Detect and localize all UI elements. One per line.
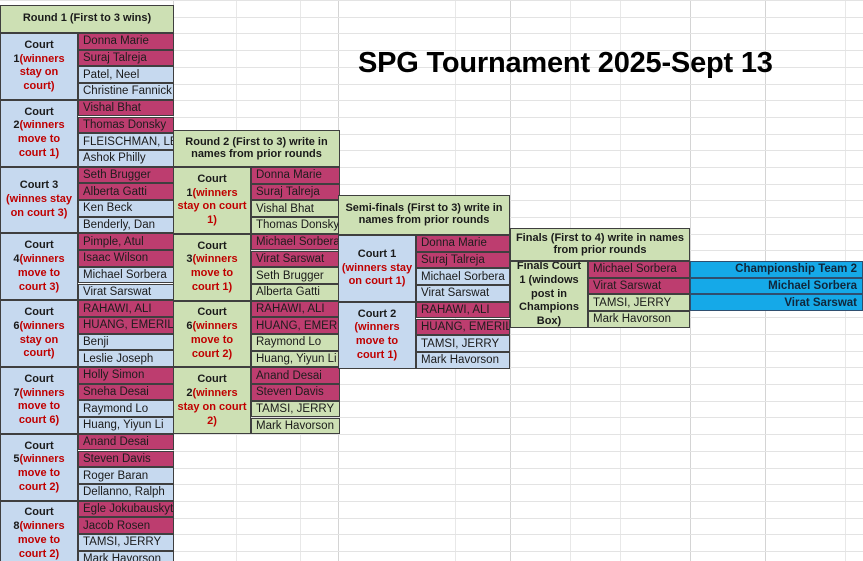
- round2-player-4-4[interactable]: Mark Havorson: [251, 418, 340, 435]
- finals-court-label: Finals Court 1 (windows post in Champion…: [510, 261, 588, 328]
- court-note: (winners move to court 6): [18, 387, 65, 427]
- championship-player-2[interactable]: Virat Sarswat: [690, 294, 863, 311]
- round2-player-1-1[interactable]: Donna Marie: [251, 167, 340, 184]
- semifinals-court-label-1: Court 1 (winners stay on court 1): [338, 235, 416, 302]
- round2-player-3-2[interactable]: HUANG, EMERIL: [251, 317, 340, 334]
- semifinals-court-label-2: Court 2 (winners move to court 1): [338, 302, 416, 369]
- round1-player-4-3[interactable]: Michael Sorbera: [78, 267, 174, 284]
- round1-player-7-2[interactable]: Steven Davis: [78, 451, 174, 468]
- semifinals-player-2-3[interactable]: TAMSI, JERRY: [416, 335, 510, 352]
- finals-player-3[interactable]: TAMSI, JERRY: [588, 294, 690, 311]
- championship-player-1[interactable]: Michael Sorbera: [690, 278, 863, 295]
- semifinals-player-1-2[interactable]: Suraj Talreja: [416, 252, 510, 269]
- round1-player-5-1[interactable]: RAHAWI, ALI: [78, 300, 174, 317]
- round2-player-3-4[interactable]: Huang, Yiyun Li: [251, 351, 340, 368]
- court-note: (winners move to court 1): [354, 321, 399, 361]
- round1-player-2-4[interactable]: Ashok Philly: [78, 150, 174, 167]
- round1-player-5-2[interactable]: HUANG, EMERIL: [78, 317, 174, 334]
- championship-label: Championship Team 2: [690, 261, 863, 278]
- round2-player-3-3[interactable]: Raymond Lo: [251, 334, 340, 351]
- round1-player-8-1[interactable]: Egle Jokubauskyte: [78, 501, 174, 518]
- round2-player-4-1[interactable]: Anand Desai: [251, 367, 340, 384]
- tournament-bracket-sheet: SPG Tournament 2025-Sept 13 Round 1 (Fir…: [0, 0, 863, 561]
- round2-player-1-4[interactable]: Thomas Donsky: [251, 217, 340, 234]
- round1-court-label-3: Court 3 (winnes stay on court 3): [0, 167, 78, 234]
- semifinals-player-2-1[interactable]: RAHAWI, ALI: [416, 302, 510, 319]
- court-name: Court 1: [358, 248, 397, 260]
- round2-player-2-4[interactable]: Alberta Gatti: [251, 284, 340, 301]
- round2-player-4-3[interactable]: TAMSI, JERRY: [251, 401, 340, 418]
- semifinals-player-2-4[interactable]: Mark Havorson: [416, 352, 510, 369]
- round1-player-1-3[interactable]: Patel, Neel: [78, 66, 174, 83]
- round1-player-6-1[interactable]: Holly Simon: [78, 367, 174, 384]
- round1-player-3-1[interactable]: Seth Brugger: [78, 167, 174, 184]
- court-name: Court 3: [20, 179, 59, 191]
- finals-player-1[interactable]: Michael Sorbera: [588, 261, 690, 278]
- round1-player-6-3[interactable]: Raymond Lo: [78, 400, 174, 417]
- court-note: (winners move to court 2): [18, 520, 65, 560]
- round1-player-6-4[interactable]: Huang, Yiyun Li: [78, 417, 174, 434]
- court-note: (winners stay on court 1): [342, 262, 412, 288]
- round1-player-5-3[interactable]: Benji: [78, 334, 174, 351]
- round1-player-3-3[interactable]: Ken Beck: [78, 200, 174, 217]
- finals-player-2[interactable]: Virat Sarswat: [588, 278, 690, 295]
- round2-court-label-2: Court 3(winners move to court 1): [173, 234, 251, 301]
- round1-player-7-4[interactable]: Dellanno, Ralph: [78, 484, 174, 501]
- round1-player-4-1[interactable]: Pimple, Atul: [78, 233, 174, 250]
- round1-player-8-4[interactable]: Mark Havorson: [78, 551, 174, 561]
- round2-court-label-3: Court 6(winners move to court 2): [173, 301, 251, 368]
- round2-player-1-2[interactable]: Suraj Talreja: [251, 184, 340, 201]
- round1-player-4-2[interactable]: Isaac Wilson: [78, 250, 174, 267]
- semifinals-player-1-1[interactable]: Donna Marie: [416, 235, 510, 252]
- round1-court-label-5: Court 6(winners stay on court): [0, 300, 78, 367]
- finals-header: Finals (First to 4) write in names from …: [510, 228, 690, 261]
- round1-player-7-1[interactable]: Anand Desai: [78, 434, 174, 451]
- semifinals-player-1-3[interactable]: Michael Sorbera: [416, 268, 510, 285]
- round1-player-1-2[interactable]: Suraj Talreja: [78, 50, 174, 67]
- round1-header: Round 1 (First to 3 wins): [0, 5, 174, 33]
- round1-player-7-3[interactable]: Roger Baran: [78, 467, 174, 484]
- round1-player-2-3[interactable]: FLEISCHMAN, LESLIE: [78, 133, 174, 150]
- court-note: (winners move to court 3): [18, 253, 65, 293]
- round2-player-3-1[interactable]: RAHAWI, ALI: [251, 301, 340, 318]
- round1-player-2-2[interactable]: Thomas Donsky: [78, 117, 174, 134]
- round2-header: Round 2 (First to 3) write in names from…: [173, 130, 340, 167]
- round1-player-2-1[interactable]: Vishal Bhat: [78, 100, 174, 117]
- round1-player-6-2[interactable]: Sneha Desai: [78, 384, 174, 401]
- round2-court-label-1: Court 1(winners stay on court 1): [173, 167, 251, 234]
- round1-court-label-4: Court 4(winners move to court 3): [0, 233, 78, 300]
- round1-player-1-4[interactable]: Christine Fannick: [78, 83, 174, 100]
- round2-court-label-4: Court 2(winners stay on court 2): [173, 367, 251, 434]
- semifinals-player-2-2[interactable]: HUANG, EMERIL: [416, 319, 510, 336]
- round2-player-2-2[interactable]: Virat Sarswat: [251, 251, 340, 268]
- court-note: (winners move to court 2): [191, 320, 238, 360]
- court-note: (winners move to court 2): [18, 453, 65, 493]
- finals-player-4[interactable]: Mark Havorson: [588, 311, 690, 328]
- court-name: Court 2: [358, 308, 397, 320]
- court-note: (winners move to court 1): [191, 253, 238, 293]
- round1-court-label-8: Court 8(winners move to court 2): [0, 501, 78, 561]
- round1-player-3-4[interactable]: Benderly, Dan: [78, 217, 174, 234]
- round2-player-1-3[interactable]: Vishal Bhat: [251, 200, 340, 217]
- round1-player-4-4[interactable]: Virat Sarswat: [78, 284, 174, 301]
- round1-player-8-2[interactable]: Jacob Rosen: [78, 517, 174, 534]
- court-note: (winners move to court 1): [18, 119, 65, 159]
- round2-player-4-2[interactable]: Steven Davis: [251, 384, 340, 401]
- court-note: (winnes stay on court 3): [6, 193, 72, 219]
- round1-player-1-1[interactable]: Donna Marie: [78, 33, 174, 50]
- round1-player-5-4[interactable]: Leslie Joseph: [78, 350, 174, 367]
- finals-court-note: (windows post in Champions Box): [519, 274, 579, 327]
- round2-player-2-1[interactable]: Michael Sorbera: [251, 234, 340, 251]
- semifinals-player-1-4[interactable]: Virat Sarswat: [416, 285, 510, 302]
- round1-court-label-1: Court 1(winners stay on court): [0, 33, 78, 100]
- round1-player-3-2[interactable]: Alberta Gatti: [78, 183, 174, 200]
- page-title: SPG Tournament 2025-Sept 13: [358, 47, 773, 80]
- round1-court-label-2: Court 2(winners move to court 1): [0, 100, 78, 167]
- round1-court-label-7: Court 5(winners move to court 2): [0, 434, 78, 501]
- semifinals-header: Semi-finals (First to 3) write in names …: [338, 195, 510, 235]
- round1-player-8-3[interactable]: TAMSI, JERRY: [78, 534, 174, 551]
- round2-player-2-3[interactable]: Seth Brugger: [251, 267, 340, 284]
- court-note: (winners stay on court): [19, 320, 64, 360]
- court-note: (winners stay on court): [19, 53, 64, 93]
- round1-court-label-6: Court 7(winners move to court 6): [0, 367, 78, 434]
